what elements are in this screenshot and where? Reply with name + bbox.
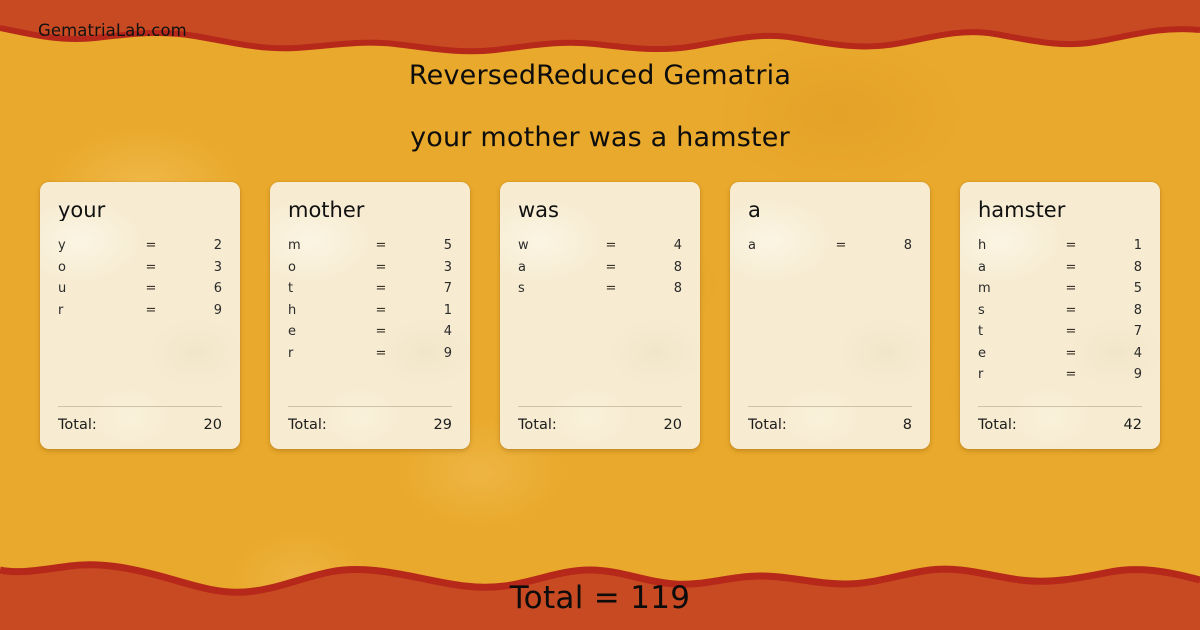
phrase-heading: your mother was a hamster xyxy=(0,122,1200,153)
card-word-title: a xyxy=(748,200,912,221)
letter-row: r = 9 xyxy=(978,367,1142,389)
letter-value: 4 xyxy=(404,324,452,339)
word-cards-row: your y = 2 o = 3 u = 6 r xyxy=(40,182,1160,449)
card-total-row: Total: 20 xyxy=(58,417,222,433)
equals-sign: = xyxy=(128,238,174,253)
equals-sign: = xyxy=(588,260,634,275)
letter-row: o = 3 xyxy=(288,260,452,282)
equals-sign: = xyxy=(588,281,634,296)
letter-row: t = 7 xyxy=(978,324,1142,346)
grand-total: Total = 119 xyxy=(0,580,1200,616)
letter-value: 7 xyxy=(404,281,452,296)
card-divider xyxy=(518,406,682,407)
letter-char: t xyxy=(288,281,358,296)
equals-sign: = xyxy=(1048,303,1094,318)
total-value: 20 xyxy=(204,417,222,433)
equals-sign: = xyxy=(1048,238,1094,253)
letter-value: 8 xyxy=(1094,260,1142,275)
letter-row: r = 9 xyxy=(58,303,222,325)
letter-value: 8 xyxy=(864,238,912,253)
card-divider xyxy=(58,406,222,407)
letter-value: 6 xyxy=(174,281,222,296)
word-card[interactable]: mother m = 5 o = 3 t = 7 h xyxy=(270,182,470,449)
equals-sign: = xyxy=(128,281,174,296)
letter-row: a = 8 xyxy=(518,260,682,282)
total-value: 8 xyxy=(903,417,912,433)
letter-row: y = 2 xyxy=(58,238,222,260)
total-label: Total: xyxy=(58,417,97,433)
letter-row: r = 9 xyxy=(288,346,452,368)
letter-row: m = 5 xyxy=(288,238,452,260)
word-card[interactable]: your y = 2 o = 3 u = 6 r xyxy=(40,182,240,449)
letter-row: t = 7 xyxy=(288,281,452,303)
letter-row: s = 8 xyxy=(518,281,682,303)
total-label: Total: xyxy=(748,417,787,433)
word-card[interactable]: was w = 4 a = 8 s = 8 xyxy=(500,182,700,449)
card-divider xyxy=(748,406,912,407)
equals-sign: = xyxy=(358,281,404,296)
letter-value: 8 xyxy=(634,260,682,275)
letter-value: 5 xyxy=(1094,281,1142,296)
letter-char: o xyxy=(288,260,358,275)
letter-row: h = 1 xyxy=(978,238,1142,260)
total-label: Total: xyxy=(518,417,557,433)
letter-value: 8 xyxy=(1094,303,1142,318)
equals-sign: = xyxy=(1048,281,1094,296)
equals-sign: = xyxy=(1048,324,1094,339)
letter-value-list: h = 1 a = 8 m = 5 s = 8 xyxy=(978,238,1142,406)
total-value: 29 xyxy=(434,417,452,433)
card-word-title: mother xyxy=(288,200,452,221)
card-total-row: Total: 20 xyxy=(518,417,682,433)
card-word-title: hamster xyxy=(978,200,1142,221)
letter-value: 9 xyxy=(174,303,222,318)
letter-value-list: m = 5 o = 3 t = 7 h = 1 xyxy=(288,238,452,406)
letter-value: 1 xyxy=(404,303,452,318)
letter-value: 5 xyxy=(404,238,452,253)
card-divider xyxy=(978,406,1142,407)
equals-sign: = xyxy=(1048,367,1094,382)
equals-sign: = xyxy=(128,260,174,275)
letter-char: o xyxy=(58,260,128,275)
letter-value: 9 xyxy=(1094,367,1142,382)
letter-char: a xyxy=(748,238,818,253)
equals-sign: = xyxy=(358,324,404,339)
equals-sign: = xyxy=(1048,346,1094,361)
total-value: 20 xyxy=(664,417,682,433)
card-total-row: Total: 42 xyxy=(978,417,1142,433)
letter-value-list: w = 4 a = 8 s = 8 xyxy=(518,238,682,406)
letter-row: e = 4 xyxy=(978,346,1142,368)
letter-char: r xyxy=(978,367,1048,382)
letter-value-list: a = 8 xyxy=(748,238,912,406)
letter-row: s = 8 xyxy=(978,303,1142,325)
letter-row: o = 3 xyxy=(58,260,222,282)
letter-value: 7 xyxy=(1094,324,1142,339)
letter-value: 8 xyxy=(634,281,682,296)
letter-char: u xyxy=(58,281,128,296)
letter-char: m xyxy=(978,281,1048,296)
site-logo[interactable]: GematriaLab.com xyxy=(38,21,187,40)
poster-background: GematriaLab.com ReversedReduced Gematria… xyxy=(0,0,1200,630)
equals-sign: = xyxy=(818,238,864,253)
letter-row: m = 5 xyxy=(978,281,1142,303)
card-word-title: your xyxy=(58,200,222,221)
card-divider xyxy=(288,406,452,407)
letter-char: e xyxy=(288,324,358,339)
letter-char: s xyxy=(978,303,1048,318)
total-value: 42 xyxy=(1124,417,1142,433)
letter-value-list: y = 2 o = 3 u = 6 r = 9 xyxy=(58,238,222,406)
letter-char: w xyxy=(518,238,588,253)
letter-char: m xyxy=(288,238,358,253)
letter-value: 3 xyxy=(174,260,222,275)
letter-char: a xyxy=(518,260,588,275)
card-word-title: was xyxy=(518,200,682,221)
letter-value: 9 xyxy=(404,346,452,361)
letter-char: a xyxy=(978,260,1048,275)
page-title: ReversedReduced Gematria xyxy=(0,60,1200,91)
letter-value: 3 xyxy=(404,260,452,275)
letter-char: t xyxy=(978,324,1048,339)
letter-char: r xyxy=(288,346,358,361)
letter-char: s xyxy=(518,281,588,296)
letter-row: a = 8 xyxy=(978,260,1142,282)
letter-row: w = 4 xyxy=(518,238,682,260)
equals-sign: = xyxy=(358,346,404,361)
equals-sign: = xyxy=(358,303,404,318)
letter-row: h = 1 xyxy=(288,303,452,325)
letter-char: r xyxy=(58,303,128,318)
letter-value: 4 xyxy=(1094,346,1142,361)
card-total-row: Total: 8 xyxy=(748,417,912,433)
equals-sign: = xyxy=(1048,260,1094,275)
letter-char: e xyxy=(978,346,1048,361)
letter-row: e = 4 xyxy=(288,324,452,346)
letter-row: a = 8 xyxy=(748,238,912,260)
letter-value: 4 xyxy=(634,238,682,253)
letter-char: h xyxy=(978,238,1048,253)
word-card[interactable]: hamster h = 1 a = 8 m = 5 s xyxy=(960,182,1160,449)
word-card[interactable]: a a = 8 Total: 8 xyxy=(730,182,930,449)
letter-value: 2 xyxy=(174,238,222,253)
equals-sign: = xyxy=(358,260,404,275)
letter-row: u = 6 xyxy=(58,281,222,303)
card-total-row: Total: 29 xyxy=(288,417,452,433)
letter-char: h xyxy=(288,303,358,318)
total-label: Total: xyxy=(978,417,1017,433)
letter-value: 1 xyxy=(1094,238,1142,253)
equals-sign: = xyxy=(128,303,174,318)
equals-sign: = xyxy=(588,238,634,253)
letter-char: y xyxy=(58,238,128,253)
total-label: Total: xyxy=(288,417,327,433)
equals-sign: = xyxy=(358,238,404,253)
